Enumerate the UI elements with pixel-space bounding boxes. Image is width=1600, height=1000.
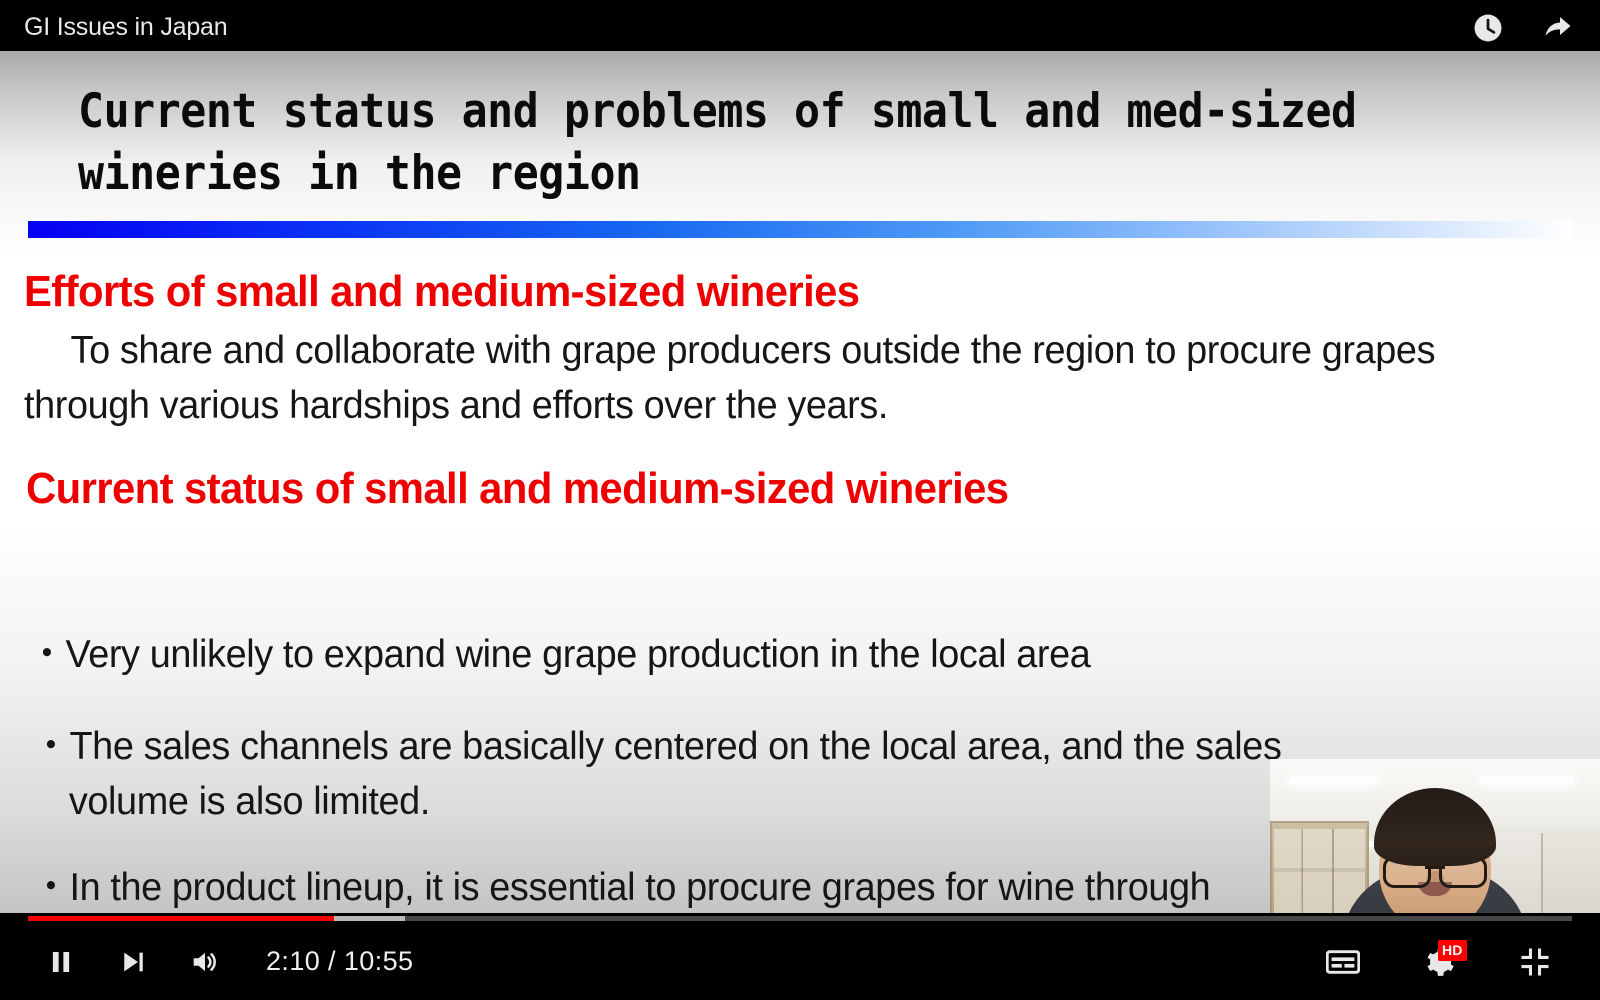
video-player[interactable]: Current status and problems of small and… — [0, 0, 1600, 1000]
section-paragraph-efforts: To share and collaborate with grape prod… — [24, 323, 1440, 434]
next-video-button[interactable] — [110, 939, 156, 985]
section-heading-current-status: Current status of small and medium-sized… — [26, 464, 1008, 514]
controls-right-group: HD — [1320, 939, 1600, 985]
bookshelf-cells — [1274, 829, 1365, 913]
control-bar: 2:10 / 10:55 HD — [0, 923, 1600, 1000]
top-action-buttons — [1468, 8, 1578, 48]
slide-headline: Current status and problems of small and… — [78, 81, 1384, 205]
video-title: GI Issues in Japan — [24, 13, 227, 42]
subtitles-icon[interactable] — [1320, 939, 1366, 985]
ceiling-light-icon — [1480, 777, 1575, 784]
bookshelf-left — [1270, 821, 1369, 914]
blue-gradient-rule — [28, 221, 1572, 238]
bullet-item: ・In the product lineup, it is essential … — [32, 749, 1254, 913]
section-heading-efforts: Efforts of small and medium-sized wineri… — [24, 267, 859, 317]
volume-button[interactable] — [182, 939, 228, 985]
settings-gear-icon[interactable]: HD — [1416, 939, 1462, 985]
ceiling-light-icon — [1288, 777, 1377, 784]
time-display: 2:10 / 10:55 — [266, 946, 413, 977]
controls-left-group: 2:10 / 10:55 — [0, 939, 413, 985]
player-top-bar: GI Issues in Japan — [0, 0, 1600, 51]
bullet-text: ・In the product lineup, it is essential … — [32, 860, 1254, 913]
bookshelf-right — [1541, 833, 1600, 913]
progress-bar[interactable] — [28, 913, 1572, 923]
player-controls[interactable]: 2:10 / 10:55 HD — [0, 913, 1600, 1000]
exit-fullscreen-icon[interactable] — [1512, 939, 1558, 985]
quality-hd-badge: HD — [1438, 940, 1467, 961]
slide-content: Current status and problems of small and… — [0, 51, 1600, 913]
glasses-bridge — [1425, 866, 1445, 869]
progress-played — [28, 916, 334, 921]
presenter-webcam-overlay — [1270, 759, 1600, 913]
pause-button[interactable] — [38, 939, 84, 985]
share-icon[interactable] — [1538, 8, 1578, 48]
watch-later-icon[interactable] — [1468, 8, 1508, 48]
